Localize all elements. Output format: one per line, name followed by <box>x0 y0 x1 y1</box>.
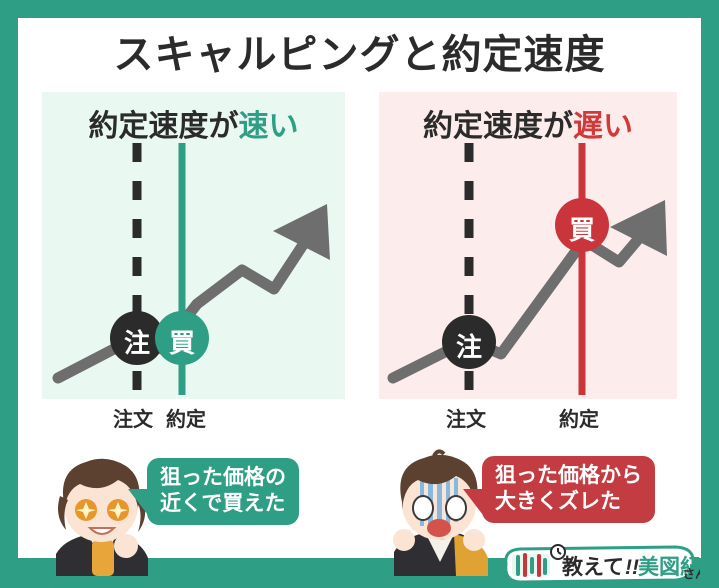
bubble-slow-result: 狙った価格から 大きくズレた <box>482 456 655 523</box>
bubble-fast-result: 狙った価格の 近くで買えた <box>147 458 299 525</box>
fill-marker-label: 買 <box>155 323 209 360</box>
brand-logo[interactable]: 教えて !! 美図紀 さん <box>500 542 700 588</box>
avatar-hand <box>114 534 138 558</box>
bubble-fast-line1: 狙った価格の <box>160 465 286 491</box>
order-marker-label: 注 <box>442 327 496 364</box>
bubble-tail <box>463 489 483 515</box>
left-axis-label-fill: 約定 <box>166 403 206 432</box>
right-axis-label-fill: 約定 <box>559 403 599 432</box>
bubble-slow-line2: 大きくズレた <box>495 489 642 515</box>
fill-marker-label: 買 <box>555 210 609 247</box>
avatar-hand-left <box>393 529 415 551</box>
price-line <box>393 224 651 378</box>
page-title: スキャルピングと約定速度 <box>18 22 701 80</box>
bubble-tail <box>128 489 148 515</box>
trend-arrow-head <box>610 200 667 256</box>
avatar-mouth <box>427 519 451 537</box>
chart-slow-execution <box>379 92 677 399</box>
panel-slow-execution: 約定速度が遅い 注 買 <box>379 92 677 399</box>
bubble-slow-line1: 狙った価格から <box>495 463 642 489</box>
logo-text-san: さん <box>683 567 700 581</box>
panel-fast-execution: 約定速度が速い 注 買 <box>42 92 345 399</box>
logo-text-teach: 教えて <box>562 555 624 579</box>
avatar-sleeve <box>92 540 114 576</box>
avatar-eye-left <box>413 496 433 520</box>
left-axis-label-order: 注文 <box>113 403 153 432</box>
bubble-fast-line2: 近くで買えた <box>160 491 286 517</box>
avatar-hand-right <box>463 529 485 551</box>
infographic-frame: スキャルピングと約定速度 約定速度が速い 注 買 注文 約定 約定速度が遅い <box>18 18 701 558</box>
right-axis-label-order: 注文 <box>446 403 486 432</box>
